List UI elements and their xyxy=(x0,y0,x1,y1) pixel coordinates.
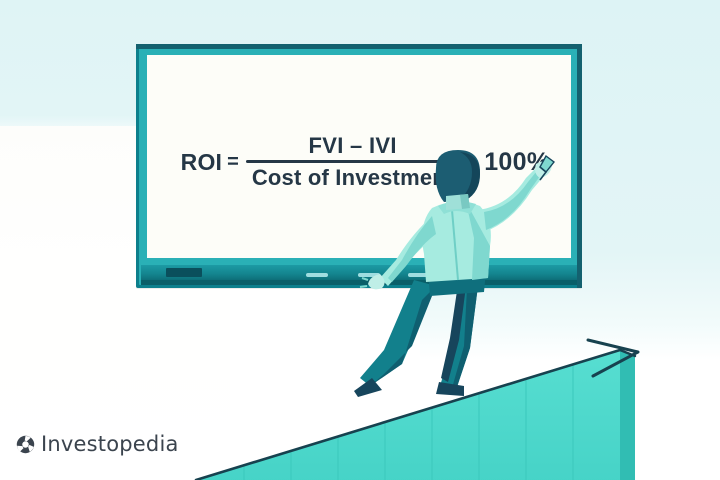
person-front-leg xyxy=(436,284,478,396)
whiteboard-top-edge xyxy=(136,44,582,49)
whiteboard-right-edge xyxy=(577,44,582,288)
eraser-icon xyxy=(166,268,202,277)
person-writing xyxy=(340,150,570,400)
aperture-icon xyxy=(16,435,35,454)
person-head xyxy=(436,150,480,210)
investopedia-logo: Investopedia xyxy=(16,432,179,456)
illustration-canvas: ROI = FVI – IVI Cost of Investment × 100… xyxy=(0,0,720,480)
logo-wordmark: Investopedia xyxy=(41,432,179,456)
person-raised-arm xyxy=(478,156,554,232)
person-back-leg xyxy=(354,280,436,397)
marker-icon xyxy=(306,273,328,277)
